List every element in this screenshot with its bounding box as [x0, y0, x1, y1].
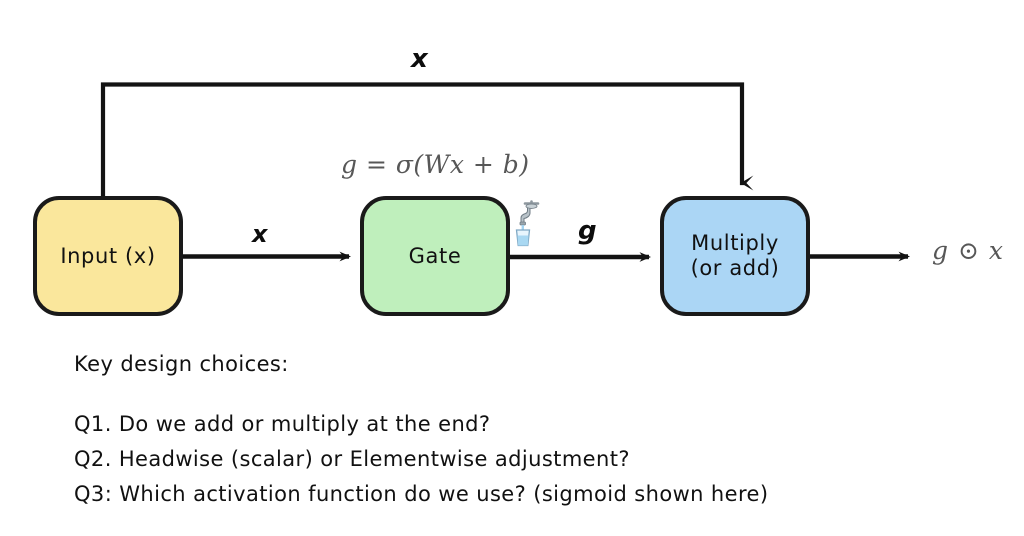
node-multiply-label-line2: (or add) — [691, 256, 780, 280]
skip-edge-label-x: x — [411, 44, 428, 74]
node-gate[interactable]: Gate — [360, 196, 510, 316]
faucet-icon — [510, 200, 554, 248]
output-expression-label: g ⊙ x — [932, 236, 1004, 265]
notes-heading: Key design choices: — [74, 352, 954, 376]
notes-block: Key design choices: Q1. Do we add or mul… — [74, 352, 954, 514]
note-line-q2: Q2. Headwise (scalar) or Elementwise adj… — [74, 445, 954, 475]
edge-label-x-input-to-gate: x — [252, 220, 267, 248]
node-input-label: Input (x) — [60, 244, 155, 269]
node-gate-label: Gate — [409, 244, 462, 269]
skip-connection-arrow — [103, 85, 742, 197]
node-multiply[interactable]: Multiply (or add) — [660, 196, 810, 316]
node-input[interactable]: Input (x) — [33, 196, 183, 316]
note-line-q3: Q3: Which activation function do we use?… — [74, 480, 954, 510]
gate-formula-label: g = σ(Wx + b) — [341, 150, 530, 179]
node-multiply-label: Multiply (or add) — [691, 231, 780, 281]
note-line-q1: Q1. Do we add or multiply at the end? — [74, 410, 954, 440]
node-multiply-label-line1: Multiply — [691, 231, 779, 255]
edge-label-g-gate-to-multiply: g — [578, 216, 597, 246]
